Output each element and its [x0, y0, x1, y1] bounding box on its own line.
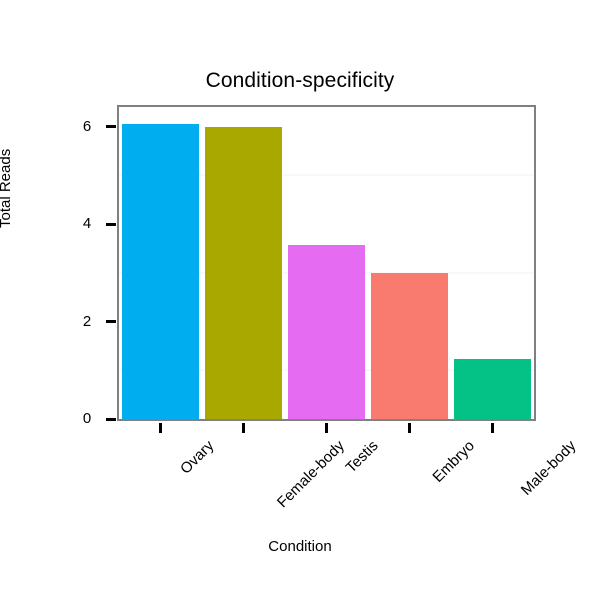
plot-area — [119, 107, 534, 419]
plot-panel — [117, 105, 536, 421]
x-tick-mark — [491, 423, 494, 433]
x-tick-label: Female-body — [274, 438, 347, 511]
y-tick-label: 0 — [77, 411, 97, 426]
chart-title: Condition-specificity — [0, 68, 600, 94]
bar[interactable] — [371, 273, 448, 419]
y-axis-title: Total Reads — [0, 149, 14, 228]
bar-chart: Condition-specificity 0246 OvaryFemale-b… — [0, 0, 600, 600]
x-tick-label: Ovary — [177, 438, 217, 478]
y-tick-mark — [106, 223, 116, 226]
x-tick-label: Embryo — [430, 438, 478, 486]
x-tick-label: Testis — [343, 438, 381, 476]
x-tick-label: Male-body — [518, 438, 579, 499]
bar[interactable] — [122, 124, 199, 419]
y-tick-label: 6 — [77, 119, 97, 134]
y-tick-mark — [106, 125, 116, 128]
bar[interactable] — [205, 127, 282, 420]
x-axis-title: Condition — [0, 538, 600, 556]
y-tick-label: 2 — [77, 314, 97, 329]
bar[interactable] — [288, 245, 365, 419]
x-tick-mark — [325, 423, 328, 433]
bar[interactable] — [454, 359, 531, 419]
x-tick-mark — [159, 423, 162, 433]
x-tick-mark — [408, 423, 411, 433]
x-tick-mark — [242, 423, 245, 433]
y-tick-label: 4 — [77, 216, 97, 231]
y-tick-mark — [106, 418, 116, 421]
y-tick-mark — [106, 320, 116, 323]
